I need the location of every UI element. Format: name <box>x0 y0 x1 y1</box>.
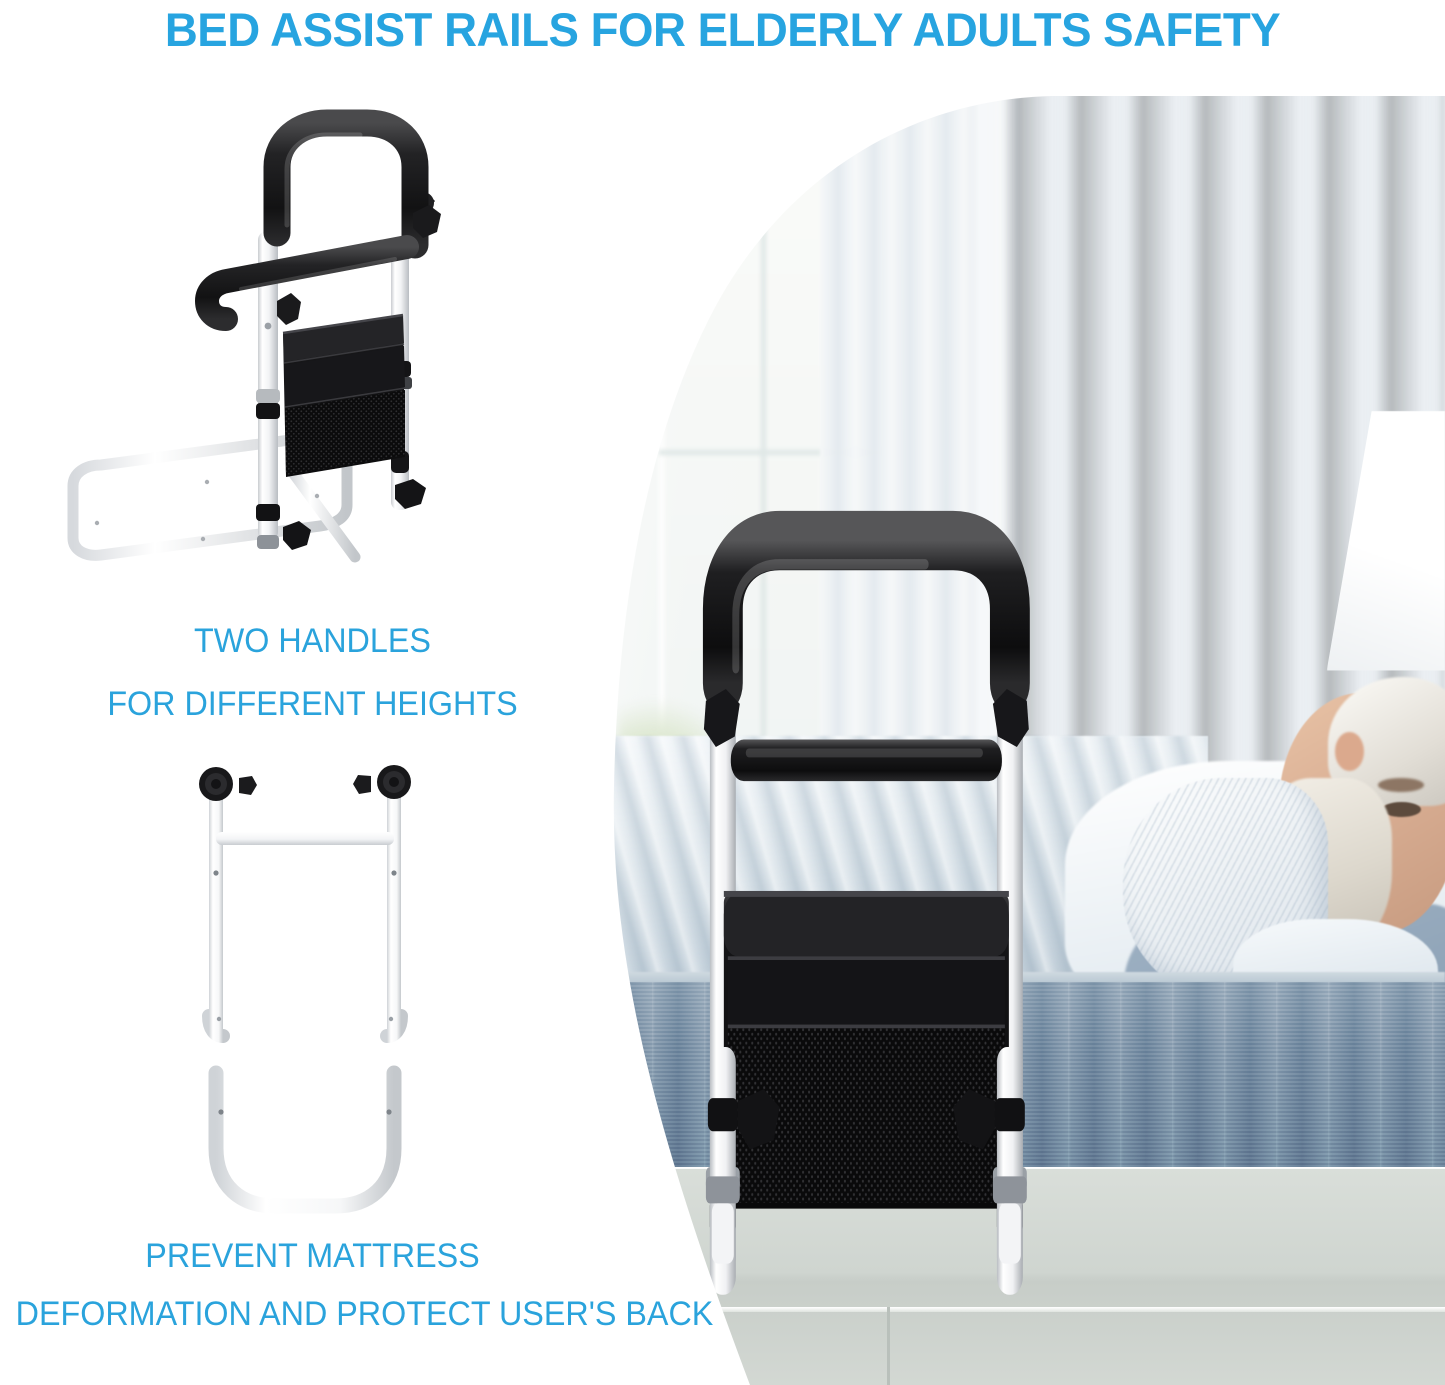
feature-caption-2-line-2: DEFORMATION AND PROTECT USER'S BACK <box>16 1295 610 1334</box>
feature-caption-1-line-2: FOR DIFFERENT HEIGHTS <box>16 685 610 724</box>
ear <box>1335 732 1363 771</box>
page-title: BED ASSIST RAILS FOR ELDERLY ADULTS SAFE… <box>22 2 1424 57</box>
upper-h-frame <box>209 790 401 1036</box>
product-image-base-frame <box>165 748 445 1223</box>
product-image-angled-rail <box>55 105 475 600</box>
installed-lower-handle <box>731 739 1002 781</box>
lifestyle-photo <box>600 86 1445 1385</box>
upper-handle-grip <box>277 123 415 245</box>
storage-pocket <box>283 315 405 477</box>
angled-rail-illustration <box>55 105 475 600</box>
eyebrow <box>1378 778 1424 792</box>
feature-caption-2-line-1: PREVENT MATTRESS <box>16 1237 610 1276</box>
lower-handle-grip <box>207 247 407 319</box>
poster-canvas: BED ASSIST RAILS FOR ELDERLY ADULTS SAFE… <box>0 0 1445 1385</box>
feature-caption-1-line-1: TWO HANDLES <box>16 622 610 661</box>
lower-u-frame <box>216 1073 394 1206</box>
bedroom-scene <box>600 86 1445 1385</box>
frame-knobs <box>199 765 411 801</box>
base-frame-illustration <box>165 748 445 1223</box>
mattress-clamp-group <box>676 1047 1065 1333</box>
